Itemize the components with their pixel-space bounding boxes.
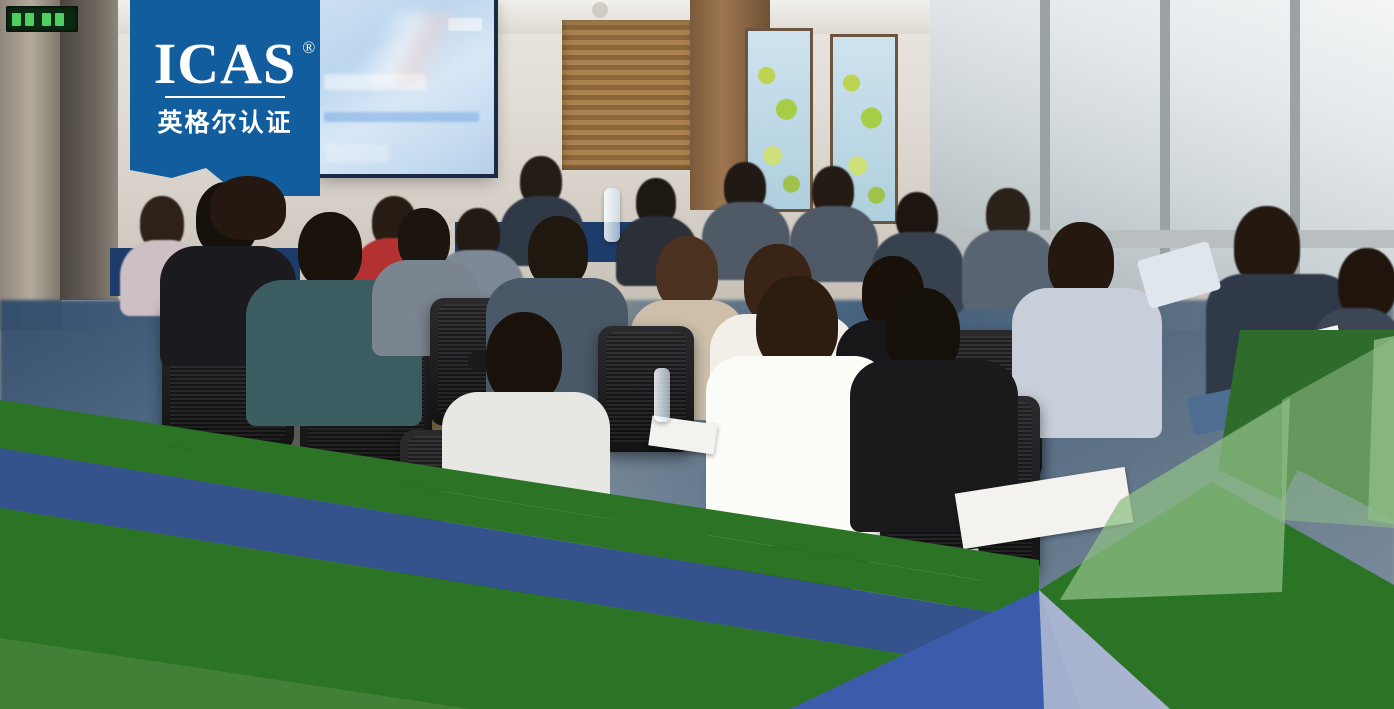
right-pale-green-overlay bbox=[1060, 398, 1290, 600]
marketing-banner: ICAS ® 英格尔认证 bbox=[0, 0, 1394, 709]
geometric-band-overlay bbox=[0, 0, 1394, 709]
